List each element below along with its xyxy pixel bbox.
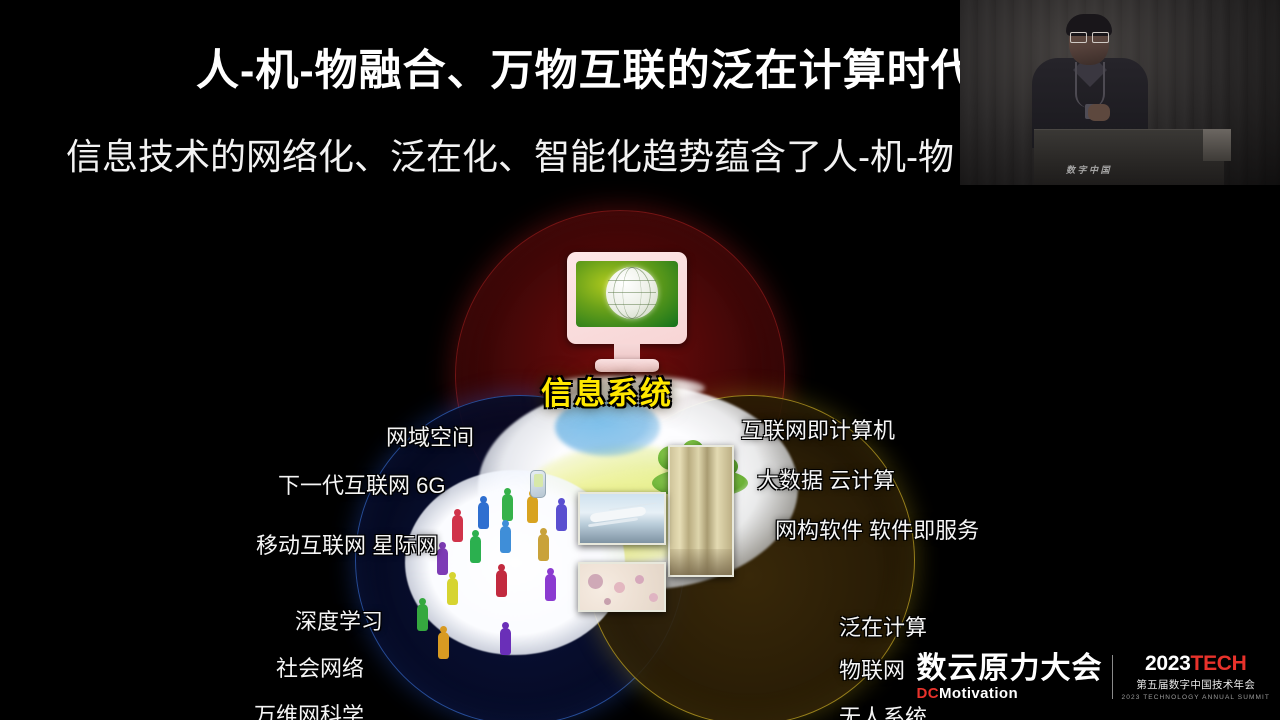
- keyword-label: 网构软件 软件即服务: [775, 513, 979, 545]
- logo-year-number: 2023: [1145, 652, 1191, 675]
- logo-subtitle-en: 2023 TECHNOLOGY ANNUAL SUMMIT: [1122, 694, 1270, 701]
- keyword-label: 深度学习: [295, 604, 383, 636]
- person-figure: [502, 494, 513, 521]
- logo-name-en: DCMotivation: [917, 685, 1018, 702]
- logo-year: 2023TECH: [1145, 653, 1247, 674]
- keyword-label: 移动互联网 星际网: [256, 528, 438, 560]
- keyword-label: 大数据 云计算: [757, 463, 895, 495]
- logo-subtitle-cn: 第五届数字中国技术年会: [1136, 677, 1255, 692]
- person-figure: [438, 632, 449, 659]
- podium-text: 数字中国: [1066, 163, 1112, 176]
- keyword-label: 社会网络: [276, 651, 364, 683]
- person-figure: [496, 570, 507, 597]
- mobile-phone-icon: [530, 470, 546, 498]
- logo-dc-accent: DC: [917, 685, 939, 702]
- podium-side-panel: [1203, 129, 1231, 161]
- airplane-photo: [578, 492, 666, 545]
- keyword-label: 物联网: [839, 653, 905, 685]
- logo-motivation-text: Motivation: [939, 685, 1018, 702]
- keyword-label: 万维网科学: [254, 698, 364, 720]
- microscope-cells-photo: [578, 562, 666, 612]
- conference-logo: 数云原力大会 DCMotivation 2023TECH 第五届数字中国技术年会…: [917, 653, 1270, 702]
- person-figure: [452, 515, 463, 542]
- speaker-lanyard: [1075, 62, 1105, 108]
- venn-caption-information-system: 信息系统: [541, 368, 673, 413]
- keyword-label: 下一代互联网 6G: [278, 468, 445, 500]
- person-figure: [470, 536, 481, 563]
- monitor-globe-icon: [567, 252, 687, 380]
- keyword-label: 互联网即计算机: [741, 413, 895, 445]
- speaker-video-overlay[interactable]: 数字中国: [960, 0, 1280, 185]
- keyword-label: 泛在计算: [839, 610, 927, 642]
- person-figure: [545, 574, 556, 601]
- podium: [1034, 129, 1224, 185]
- person-figure: [556, 504, 567, 531]
- monitor-body: [567, 252, 687, 344]
- venn-diagram: 信息系统 人类社会 物理系统 网域空间 下一代互联网 6G 移动互联网 星际网 …: [0, 170, 1280, 690]
- person-figure: [500, 628, 511, 655]
- globe-icon: [606, 267, 658, 319]
- keyword-label: 无人系统: [839, 700, 927, 720]
- monitor-screen: [576, 261, 678, 327]
- speaker-hand: [1088, 104, 1110, 121]
- glasses-icon: [1070, 32, 1109, 41]
- person-figure: [447, 578, 458, 605]
- logo-name-cn: 数云原力大会: [917, 653, 1103, 684]
- logo-primary: 数云原力大会 DCMotivation: [917, 653, 1103, 702]
- logo-divider: [1112, 655, 1113, 699]
- person-figure: [437, 548, 448, 575]
- person-figure: [500, 526, 511, 553]
- keyword-label: 网域空间: [386, 420, 474, 452]
- logo-tech-text: TECH: [1191, 652, 1247, 675]
- logo-secondary: 2023TECH 第五届数字中国技术年会 2023 TECHNOLOGY ANN…: [1122, 653, 1270, 701]
- skyscrapers-photo: [668, 445, 734, 577]
- person-figure: [527, 496, 538, 523]
- person-figure: [478, 502, 489, 529]
- person-figure: [417, 604, 428, 631]
- person-figure: [538, 534, 549, 561]
- presentation-slide-screenshot: 人-机-物融合、万物互联的泛在计算时代 信息技术的网络化、泛在化、智能化趋势蕴含…: [0, 0, 1280, 720]
